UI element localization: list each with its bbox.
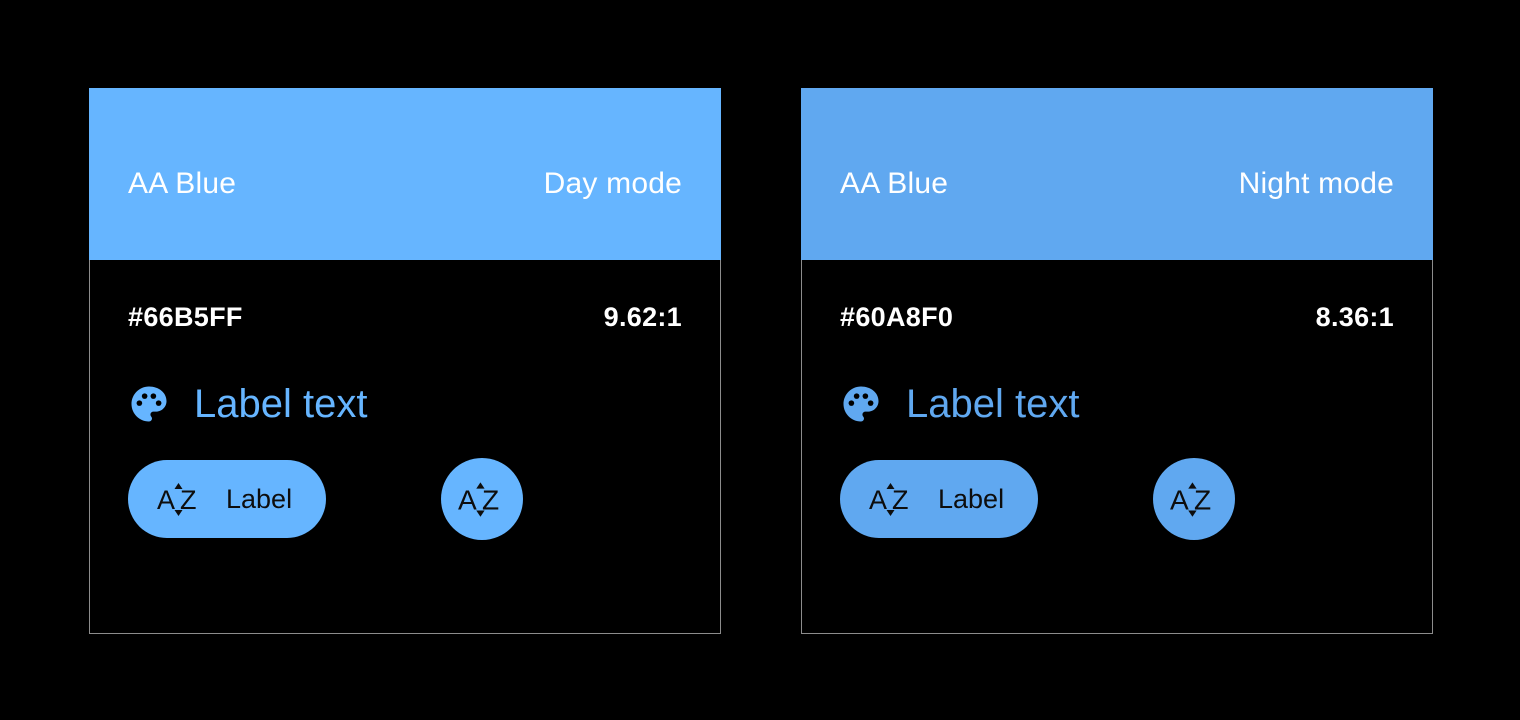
- palette-icon: [128, 383, 170, 425]
- svg-text:Z: Z: [1194, 484, 1211, 515]
- sort-az-icon: A Z: [156, 478, 204, 520]
- contrast-ratio-day: 9.62:1: [604, 304, 682, 331]
- svg-text:A: A: [157, 485, 175, 515]
- theme-preview-card-day: AA Blue Day mode #66B5FF 9.62:1: [89, 88, 721, 634]
- sort-az-icon: A Z: [868, 478, 916, 520]
- sort-fab-button-night[interactable]: A Z: [1153, 458, 1235, 540]
- color-info-row-day: #66B5FF 9.62:1: [90, 304, 720, 331]
- svg-text:A: A: [1170, 484, 1189, 515]
- sort-fab-button-day[interactable]: A Z: [441, 458, 523, 540]
- sort-pill-button-label-night: Label: [938, 486, 1004, 513]
- label-text-day: Label text: [194, 384, 367, 424]
- color-info-row-night: #60A8F0 8.36:1: [802, 304, 1432, 331]
- svg-text:Z: Z: [482, 484, 499, 515]
- hex-value-night: #60A8F0: [840, 304, 953, 331]
- card-title-day: AA Blue: [128, 169, 236, 199]
- svg-text:A: A: [869, 485, 887, 515]
- button-row-night: A Z Label A Z: [840, 460, 1394, 540]
- label-text-row-day: Label text: [128, 383, 367, 425]
- button-row-day: A Z Label A Z: [128, 460, 682, 540]
- card-mode-label-night: Night mode: [1239, 169, 1394, 199]
- sort-az-icon: A Z: [1169, 477, 1219, 521]
- card-header-day: AA Blue Day mode: [89, 88, 721, 260]
- svg-text:A: A: [458, 484, 477, 515]
- sort-pill-button-label-day: Label: [226, 486, 292, 513]
- card-body-night: #60A8F0 8.36:1 Label text: [801, 260, 1433, 634]
- svg-text:Z: Z: [180, 485, 197, 515]
- sort-az-icon: A Z: [457, 477, 507, 521]
- screen-background: AA Blue Day mode #66B5FF 9.62:1: [0, 0, 1520, 720]
- sort-pill-button-night[interactable]: A Z Label: [840, 460, 1038, 538]
- palette-icon: [840, 383, 882, 425]
- sort-pill-button-day[interactable]: A Z Label: [128, 460, 326, 538]
- card-body-day: #66B5FF 9.62:1 Label text: [89, 260, 721, 634]
- card-title-night: AA Blue: [840, 169, 948, 199]
- card-mode-label-day: Day mode: [544, 169, 682, 199]
- hex-value-day: #66B5FF: [128, 304, 243, 331]
- card-header-night: AA Blue Night mode: [801, 88, 1433, 260]
- theme-preview-card-night: AA Blue Night mode #60A8F0 8.36:1: [801, 88, 1433, 634]
- label-text-night: Label text: [906, 384, 1079, 424]
- label-text-row-night: Label text: [840, 383, 1079, 425]
- contrast-ratio-night: 8.36:1: [1316, 304, 1394, 331]
- svg-text:Z: Z: [892, 485, 909, 515]
